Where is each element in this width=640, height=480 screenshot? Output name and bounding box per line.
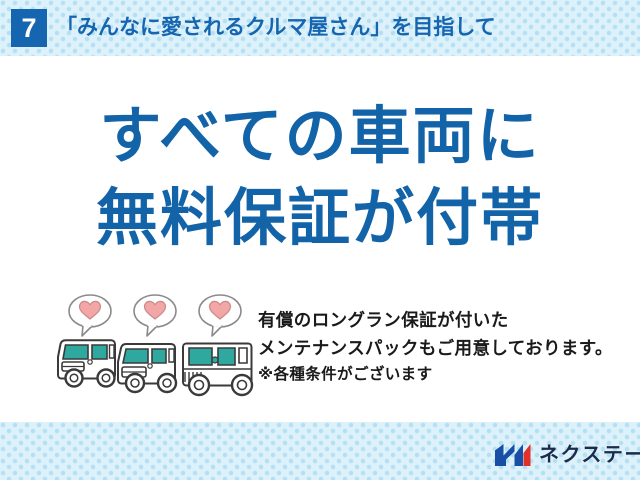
brand-name: ネクステージ [539, 442, 640, 468]
header-title: 「みんなに愛されるクルマ屋さん」を目指して [56, 13, 496, 43]
cars-and-hearts-svg [52, 292, 258, 404]
description-line-2: メンテナンスパックもご用意しております。 [258, 334, 628, 362]
car-minivan [118, 344, 176, 392]
heart-bubble-1 [69, 295, 111, 336]
three-cars-illustration [52, 292, 258, 404]
header-step-badge: 7 [11, 9, 47, 47]
headline-line-2: 無料保証が付帯 [0, 178, 640, 260]
headline-line-1: すべての車両に [0, 96, 640, 178]
description-line-1: 有償のロングラン保証が付いた [258, 306, 628, 334]
heart-bubble-2 [134, 295, 176, 336]
nextage-n-icon [494, 442, 532, 468]
description-note: ※各種条件がございます [258, 362, 628, 388]
description-block: 有償のロングラン保証が付いた メンテナンスパックもご用意しております。 ※各種条… [258, 306, 628, 388]
car-suv [183, 344, 252, 396]
page-title: すべての車両に 無料保証が付帯 [0, 96, 640, 260]
brand-logo: ネクステージ [494, 438, 640, 472]
car-kei-wagon [58, 340, 115, 386]
heart-bubble-3 [199, 295, 241, 336]
promo-banner: 7 「みんなに愛されるクルマ屋さん」を目指して すべての車両に 無料保証が付帯 [0, 0, 640, 480]
